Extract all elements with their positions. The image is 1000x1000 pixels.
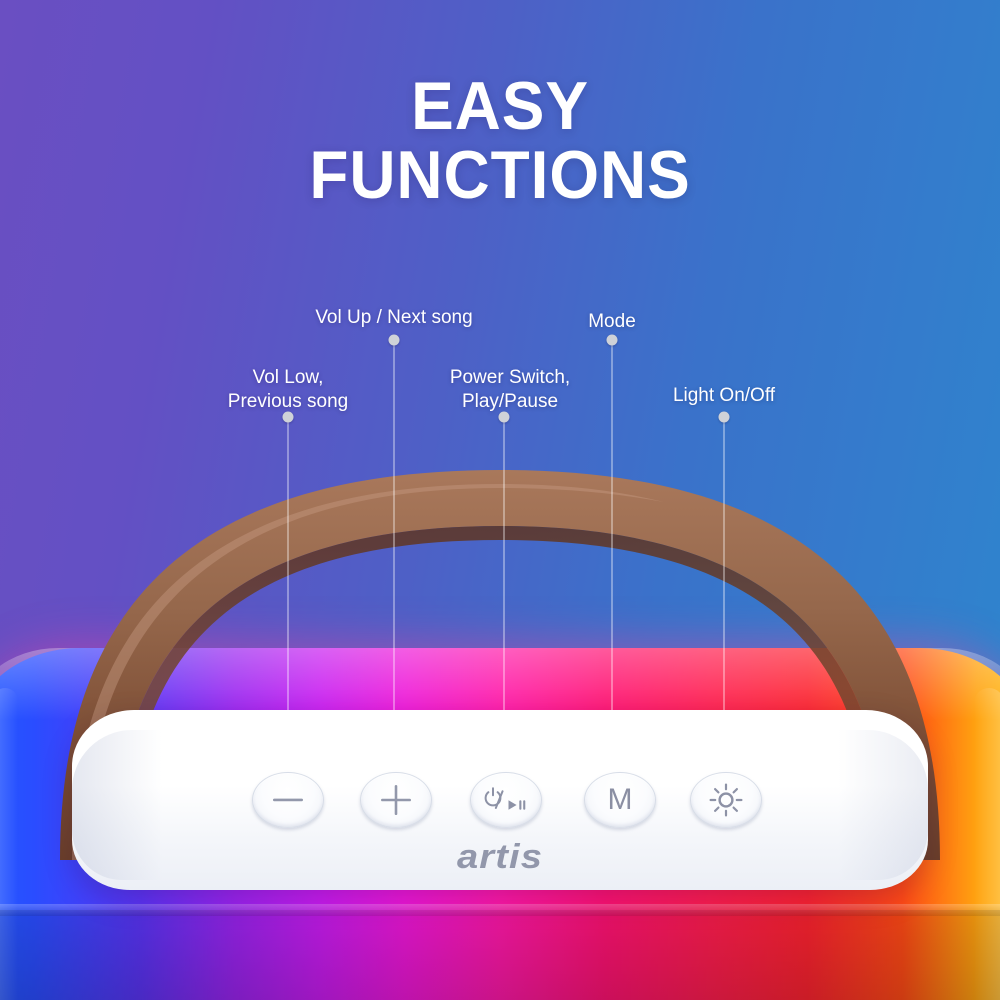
panel-gloss	[90, 716, 910, 776]
leader-dot-light-on-off	[719, 412, 730, 423]
leader-dot-mode	[607, 335, 618, 346]
leader-line-vol-up-next-song	[394, 340, 395, 790]
power-play-pause-button[interactable]	[470, 772, 542, 828]
mode-button[interactable]: M	[584, 772, 656, 828]
page-title: EASY FUNCTIONS	[30, 74, 970, 207]
headline-line-2: FUNCTIONS	[30, 143, 970, 208]
brand-logo: artis	[0, 838, 1000, 877]
minus-icon	[271, 793, 305, 807]
volume-down-button[interactable]	[252, 772, 324, 828]
leader-dot-vol-up-next-song	[389, 335, 400, 346]
leader-line-power-switch-play-pause	[504, 417, 505, 790]
light-toggle-button[interactable]	[690, 772, 762, 828]
callout-label-light-on-off: Light On/Off	[673, 384, 775, 408]
leader-line-mode	[612, 340, 613, 790]
sun-brightness-icon	[709, 783, 743, 817]
product-feature-image: EASY FUNCTIONS	[0, 0, 1000, 1000]
leader-line-light-on-off	[724, 417, 725, 790]
callout-label-mode: Mode	[588, 310, 636, 334]
plus-icon	[380, 784, 412, 816]
callout-label-vol-up-next-song: Vol Up / Next song	[315, 306, 472, 330]
speaker-lower-shade	[0, 910, 1000, 1000]
headline-line-1: EASY	[30, 74, 970, 139]
power-play-pause-icon	[482, 787, 530, 813]
leader-line-vol-low-previous-song	[288, 417, 289, 790]
mode-button-label: M	[608, 785, 633, 815]
callout-label-vol-low-previous-song: Vol Low, Previous song	[228, 366, 348, 414]
callout-label-power-switch-play-pause: Power Switch, Play/Pause	[450, 366, 570, 414]
volume-up-button[interactable]	[360, 772, 432, 828]
